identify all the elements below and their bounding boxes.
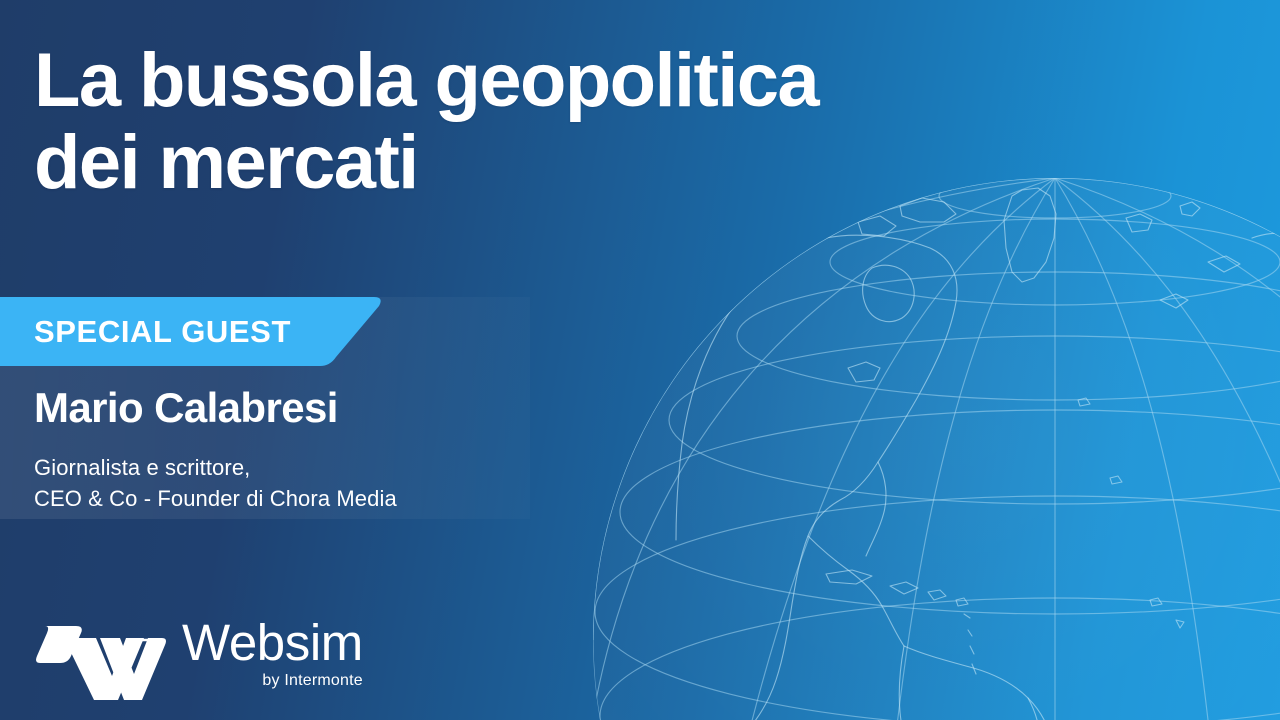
presentation-slide: La bussola geopolitica dei mercati SPECI… xyxy=(0,0,1280,720)
special-guest-badge: SPECIAL GUEST xyxy=(0,297,390,366)
title-line-1: La bussola geopolitica xyxy=(34,40,674,122)
special-guest-badge-label: SPECIAL GUEST xyxy=(34,297,291,366)
websim-w-mark-icon xyxy=(34,618,168,702)
websim-logo: Websim by Intermonte xyxy=(34,618,363,702)
guest-role-line-1: Giornalista e scrittore, xyxy=(34,452,397,483)
websim-tagline: by Intermonte xyxy=(262,672,362,690)
guest-role: Giornalista e scrittore, CEO & Co - Foun… xyxy=(34,452,397,514)
title-line-2: dei mercati xyxy=(34,122,674,204)
page-title: La bussola geopolitica dei mercati xyxy=(34,40,674,204)
websim-wordmark: Websim xyxy=(182,618,363,668)
guest-name: Mario Calabresi xyxy=(34,387,338,429)
guest-role-line-2: CEO & Co - Founder di Chora Media xyxy=(34,483,397,514)
